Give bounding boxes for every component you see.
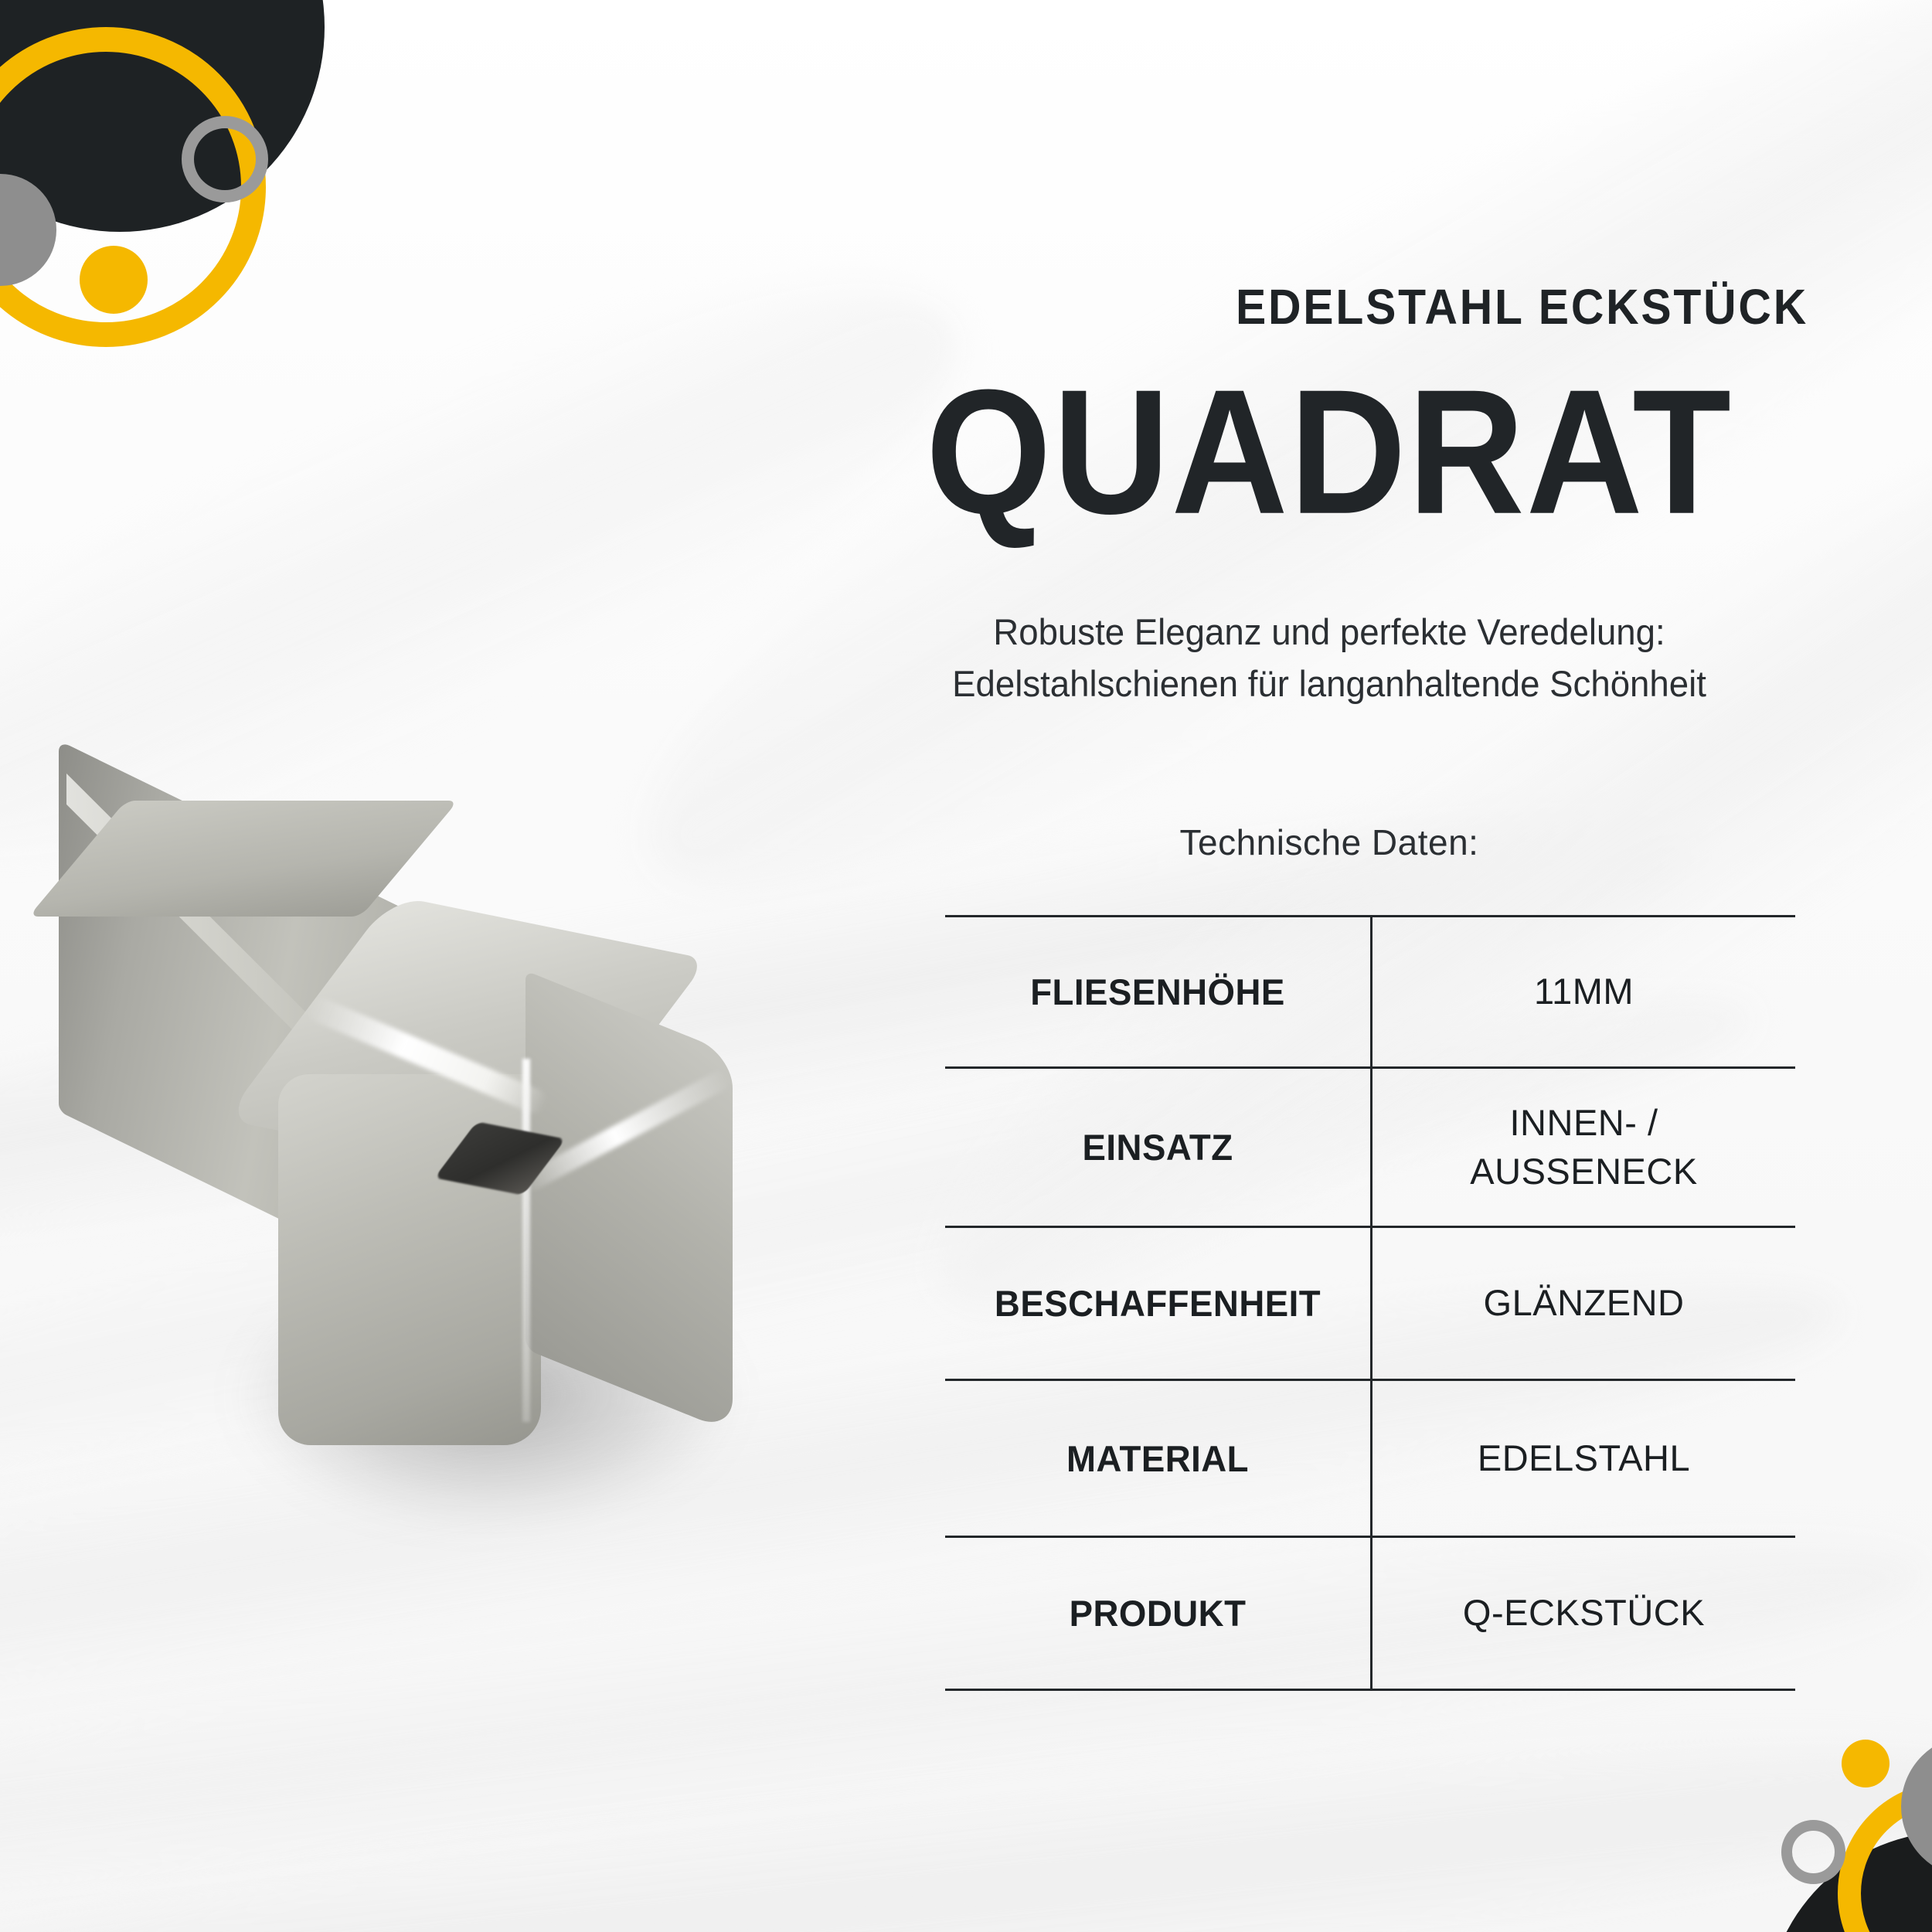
spec-value: 11MM [1372, 917, 1796, 1068]
table-row: FLIESENHÖHE 11MM [945, 917, 1795, 1068]
subtitle-line-2: Edelstahlschienen für langanhaltende Sch… [865, 658, 1794, 710]
table-row: EINSATZ INNEN- /AUSSENECK [945, 1068, 1795, 1227]
product-image [46, 788, 866, 1615]
spec-key: EINSATZ [951, 1068, 1365, 1227]
spec-table-body: FLIESENHÖHE 11MM EINSATZ INNEN- /AUSSENE… [945, 917, 1795, 1690]
spec-value: Q-ECKSTÜCK [1372, 1537, 1796, 1690]
table-row: BESCHAFFENHEIT GLÄNZEND [945, 1227, 1795, 1380]
spec-value: EDELSTAHL [1372, 1380, 1796, 1537]
spec-key: BESCHAFFENHEIT [951, 1227, 1365, 1380]
product-kicker: EDELSTAHL ECKSTÜCK [927, 278, 1808, 335]
spec-key: FLIESENHÖHE [951, 917, 1365, 1068]
product-corner-cube [278, 927, 726, 1468]
table-row: MATERIAL EDELSTAHL [945, 1380, 1795, 1537]
cube-vertical-edge-highlight [522, 1059, 530, 1422]
subtitle-line-1: Robuste Eleganz und perfekte Veredelung: [865, 607, 1794, 658]
spec-value: GLÄNZEND [1372, 1227, 1796, 1380]
spec-table: FLIESENHÖHE 11MM EINSATZ INNEN- /AUSSENE… [945, 915, 1795, 1691]
content-panel: EDELSTAHL ECKSTÜCK QUADRAT Robuste Elega… [850, 0, 1855, 1932]
spec-key: PRODUKT [951, 1537, 1365, 1690]
spec-key: MATERIAL [951, 1380, 1365, 1537]
product-subtitle: Robuste Eleganz und perfekte Veredelung:… [865, 607, 1794, 709]
page-title: QUADRAT [841, 363, 1818, 541]
cube-right-face [526, 971, 733, 1433]
spec-value: INNEN- /AUSSENECK [1372, 1068, 1796, 1227]
spec-table-heading: Technische Daten: [850, 821, 1808, 863]
table-row: PRODUKT Q-ECKSTÜCK [945, 1537, 1795, 1690]
